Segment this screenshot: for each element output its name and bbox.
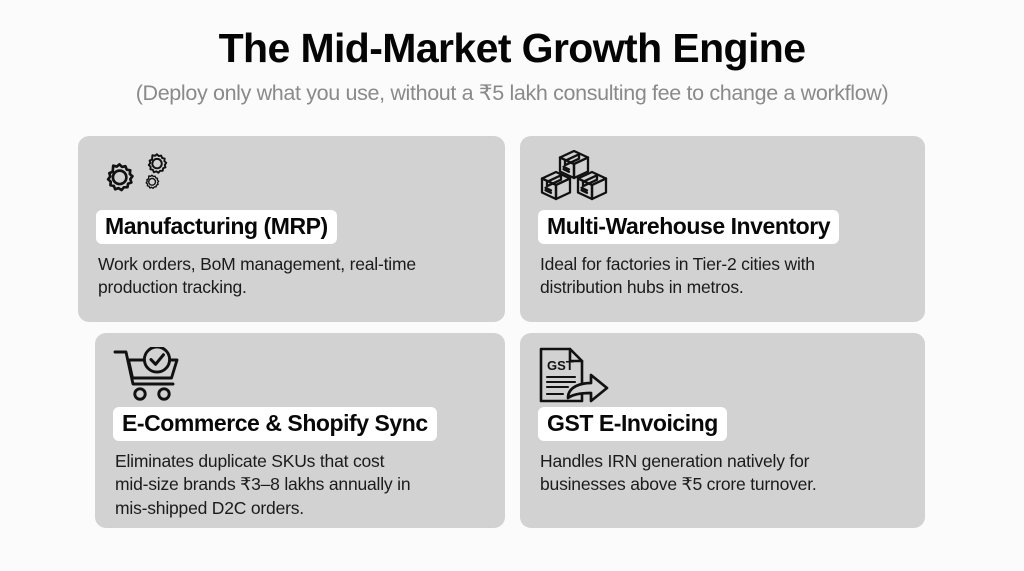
- card-description-line: mid-size brands ₹3–8 lakhs annually in: [115, 473, 437, 496]
- card-content: Manufacturing (MRP) Work orders, BoM man…: [78, 136, 434, 300]
- gears-icon: [96, 150, 416, 206]
- card-description: Work orders, BoM management, real-time p…: [96, 253, 416, 300]
- card-content: Multi-Warehouse Inventory Ideal for fact…: [520, 136, 857, 300]
- svg-text:GST: GST: [547, 358, 574, 373]
- page-title: The Mid-Market Growth Engine: [0, 0, 1024, 72]
- shopping-cart-check-icon: [113, 347, 437, 403]
- card-description-line: Handles IRN generation natively for: [540, 450, 817, 473]
- page-subtitle: (Deploy only what you use, without a ₹5 …: [0, 72, 1024, 106]
- feature-card-multi-warehouse-inventory[interactable]: Multi-Warehouse Inventory Ideal for fact…: [520, 136, 925, 322]
- feature-card-gst-einvoicing[interactable]: GST GST E-Invoicing Handles IRN generati…: [520, 333, 925, 528]
- card-content: GST GST E-Invoicing Handles IRN generati…: [520, 333, 835, 497]
- card-description-line: mis-shipped D2C orders.: [115, 497, 437, 520]
- feature-card-manufacturing[interactable]: Manufacturing (MRP) Work orders, BoM man…: [78, 136, 505, 322]
- card-description-line: Eliminates duplicate SKUs that cost: [115, 450, 437, 473]
- stacked-boxes-icon: [538, 150, 839, 206]
- feature-card-ecommerce-shopify-sync[interactable]: E-Commerce & Shopify Sync Eliminates dup…: [95, 333, 505, 528]
- card-title-row: GST E-Invoicing: [538, 407, 817, 441]
- card-description: Handles IRN generation natively for busi…: [538, 450, 817, 497]
- card-description-line: Ideal for factories in Tier-2 cities wit…: [540, 253, 839, 276]
- card-title: E-Commerce & Shopify Sync: [113, 407, 437, 441]
- card-description-line: businesses above ₹5 crore turnover.: [540, 473, 817, 496]
- card-description-line: production tracking.: [98, 276, 416, 299]
- card-description-line: Work orders, BoM management, real-time: [98, 253, 416, 276]
- card-description: Ideal for factories in Tier-2 cities wit…: [538, 253, 839, 300]
- card-title: GST E-Invoicing: [538, 407, 727, 441]
- card-title-row: E-Commerce & Shopify Sync: [113, 407, 437, 441]
- card-title: Manufacturing (MRP): [96, 210, 337, 244]
- card-title-row: Multi-Warehouse Inventory: [538, 210, 839, 244]
- card-title: Multi-Warehouse Inventory: [538, 210, 839, 244]
- card-content: E-Commerce & Shopify Sync Eliminates dup…: [95, 333, 455, 520]
- card-description-line: distribution hubs in metros.: [540, 276, 839, 299]
- page-header: The Mid-Market Growth Engine (Deploy onl…: [0, 0, 1024, 106]
- gst-document-share-icon: GST: [538, 347, 817, 403]
- card-description: Eliminates duplicate SKUs that cost mid-…: [113, 450, 437, 520]
- card-title-row: Manufacturing (MRP): [96, 210, 416, 244]
